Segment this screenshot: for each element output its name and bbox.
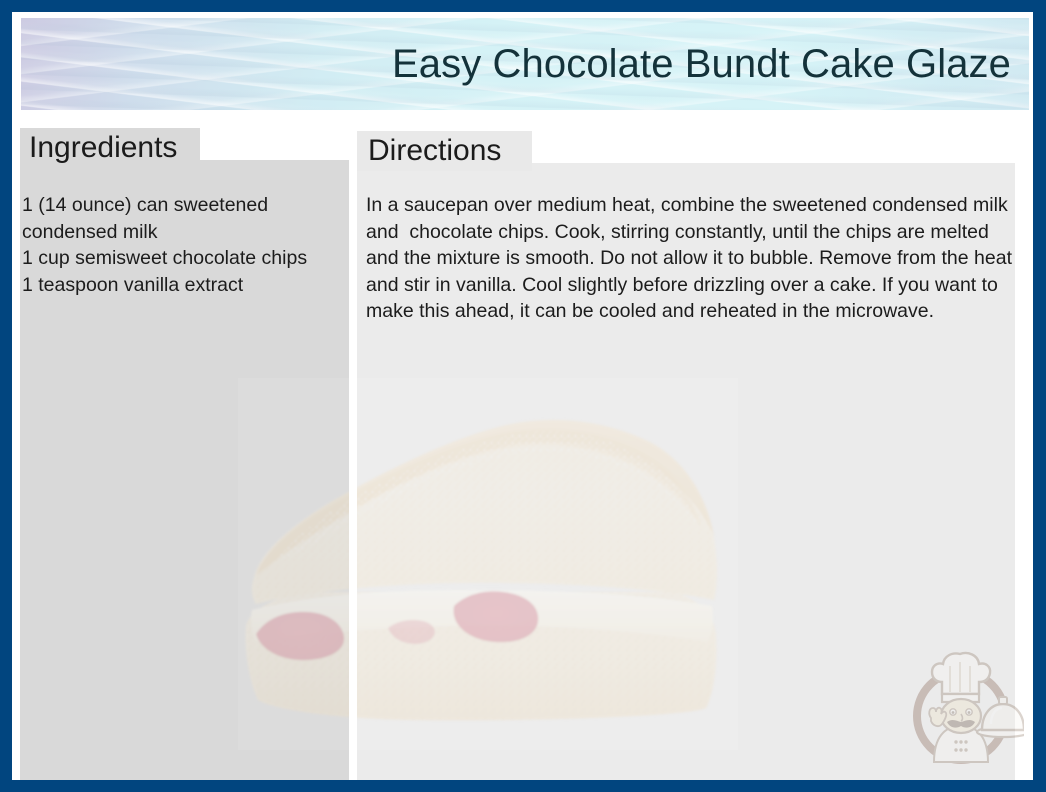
frame-border-left — [0, 0, 12, 792]
ingredients-section-tab: Ingredients — [20, 128, 200, 168]
frame-border-top — [0, 0, 1046, 12]
directions-heading: Directions — [368, 136, 501, 166]
list-item: 1 teaspoon vanilla extract — [22, 272, 350, 299]
page-title: Easy Chocolate Bundt Cake Glaze — [392, 43, 1011, 85]
list-item: 1 cup semisweet chocolate chips — [22, 245, 350, 272]
list-item: 1 (14 ounce) can sweetened condensed mil… — [22, 192, 350, 245]
title-banner: Easy Chocolate Bundt Cake Glaze — [21, 18, 1029, 110]
ingredients-list: 1 (14 ounce) can sweetened condensed mil… — [22, 192, 350, 298]
frame-border-bottom — [0, 780, 1046, 792]
directions-text: In a saucepan over medium heat, combine … — [366, 192, 1016, 325]
ingredients-heading: Ingredients — [29, 133, 177, 163]
frame-border-right — [1033, 0, 1046, 792]
directions-section-tab: Directions — [357, 131, 532, 171]
panel-divider — [349, 160, 357, 780]
recipe-card: Easy Chocolate Bundt Cake Glaze — [0, 0, 1046, 792]
